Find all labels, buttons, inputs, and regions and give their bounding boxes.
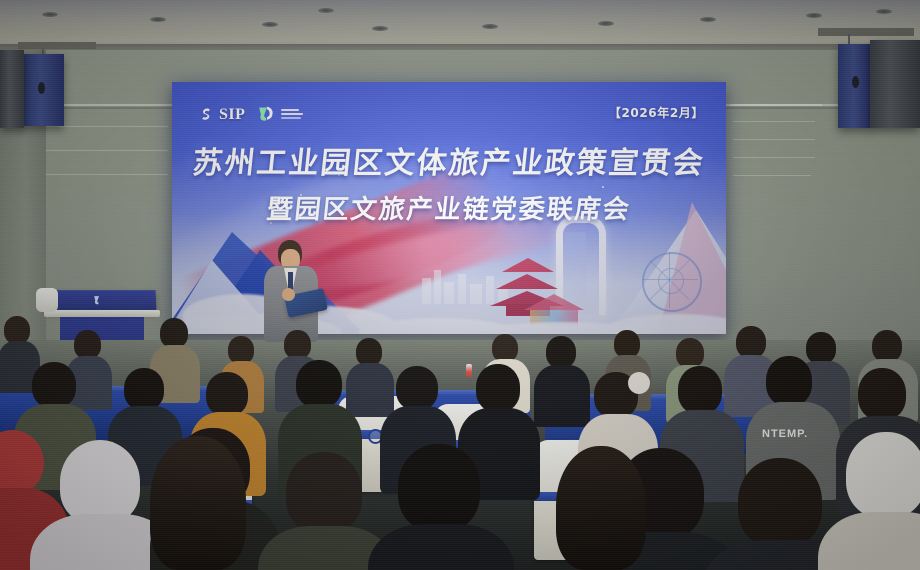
downlight <box>806 13 822 18</box>
water-bottle <box>466 364 472 377</box>
screen-title-block: 苏州工业园区文体旅产业政策宣贯会 暨园区文旅产业链党委联席会 <box>172 138 726 226</box>
downlight <box>318 8 334 13</box>
screen-logo-group: SIP <box>196 104 303 125</box>
speaker-left-mount <box>18 42 96 49</box>
head <box>678 366 722 414</box>
speaker-right-mount <box>818 28 914 36</box>
head <box>806 332 836 364</box>
wall-accent-line <box>46 150 168 151</box>
presenter-hand <box>282 288 295 301</box>
head <box>160 318 188 348</box>
screen-title-line-2: 暨园区文旅产业链党委联席会 <box>172 189 726 226</box>
wall-accent-line <box>733 139 815 140</box>
head <box>74 330 101 359</box>
head <box>546 336 576 368</box>
screen-title-line-1: 苏州工业园区文体旅产业政策宣贯会 <box>172 138 726 182</box>
podium-logo-icon <box>92 294 105 307</box>
head <box>872 330 902 362</box>
wenlv-logo-wordmark <box>281 104 303 119</box>
wall-accent-line <box>46 126 168 127</box>
downlight <box>150 17 166 22</box>
sip-logo: SIP <box>196 105 245 124</box>
sip-swirl-icon <box>196 105 215 124</box>
wall-accent-line <box>733 157 815 158</box>
speaker-right-port <box>852 76 859 88</box>
wall-accent-line <box>733 121 815 122</box>
head <box>206 372 248 416</box>
led-display: SIP 【2026年2月】 苏州工业园区文体旅产业政策宣贯会 <box>172 82 726 334</box>
head <box>32 362 76 408</box>
head <box>356 338 382 366</box>
head <box>60 440 140 524</box>
shirt-text: NTEMP. <box>762 428 808 440</box>
head <box>736 326 766 358</box>
head <box>398 444 480 532</box>
head <box>284 330 311 359</box>
downlight <box>598 21 614 26</box>
head <box>766 356 812 406</box>
torso <box>346 363 394 417</box>
head <box>124 368 164 410</box>
downlight <box>700 17 716 22</box>
head <box>492 334 518 362</box>
hair-bun <box>628 372 650 394</box>
head <box>286 452 362 534</box>
long-hair <box>150 436 246 570</box>
date-badge: 【2026年2月】 <box>609 104 704 121</box>
wall-accent-line <box>730 104 822 106</box>
head <box>614 330 640 358</box>
speaker-left-port <box>38 82 45 94</box>
wall-accent-line <box>46 174 168 175</box>
speaker-left-back <box>0 50 24 128</box>
head <box>4 316 30 344</box>
downlight <box>372 26 388 31</box>
wall-accent-line <box>733 175 811 176</box>
head <box>396 366 438 410</box>
head <box>738 458 822 548</box>
wenlv-mark-icon <box>256 104 278 125</box>
head <box>846 432 920 518</box>
speaker-right-back <box>870 40 920 128</box>
head <box>858 368 906 420</box>
podium-side-panel <box>36 288 58 312</box>
head <box>476 364 520 412</box>
downlight <box>262 22 278 27</box>
head <box>228 336 254 364</box>
sip-logo-text: SIP <box>219 106 245 124</box>
head <box>676 338 704 368</box>
downlight <box>42 12 58 17</box>
torso <box>534 365 590 427</box>
podium-edge <box>44 310 160 317</box>
wenlv-logo <box>256 104 303 125</box>
downlight <box>876 9 892 14</box>
long-hair <box>556 446 646 570</box>
downlight <box>482 24 498 29</box>
conference-photo: SIP 【2026年2月】 苏州工业园区文体旅产业政策宣贯会 <box>0 0 920 570</box>
head <box>296 360 342 408</box>
